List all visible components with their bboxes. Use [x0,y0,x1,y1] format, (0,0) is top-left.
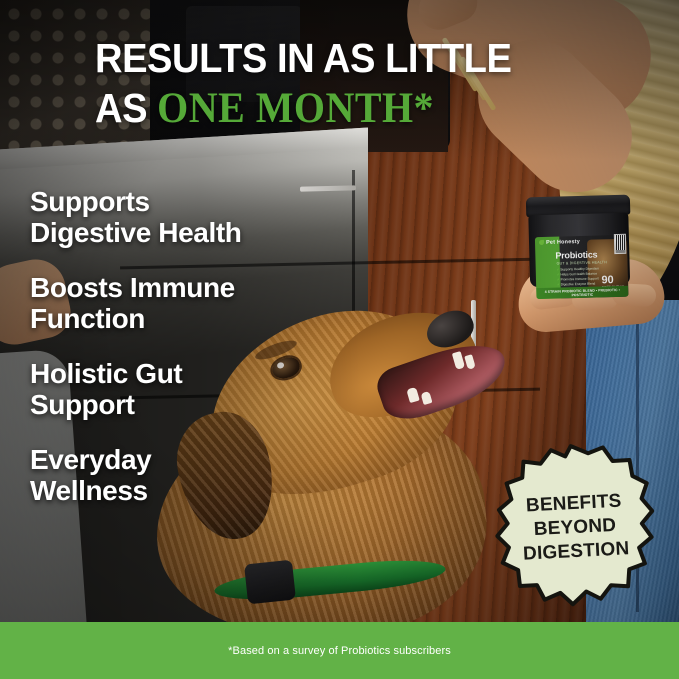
benefit-line-1: Everyday [30,444,151,475]
headline-line-2: AS ONE MONTH* [95,86,579,131]
advertisement-creative: Pet Honesty Probiotics GUT & DIGESTIVE H… [0,0,679,679]
headline-accent: ONE MONTH* [157,85,434,132]
benefit-line-2: Wellness [30,475,148,506]
badge-line-3: DIGESTION [523,537,630,567]
barcode [614,234,627,254]
footer-bar: *Based on a survey of Probiotics subscri… [0,622,679,679]
benefit-line-1: Holistic Gut [30,358,182,389]
benefits-list: Supports Digestive Health Boosts Immune … [30,186,340,530]
benefit-line-2: Digestive Health [30,217,241,248]
product-title: Probiotics [555,250,597,261]
benefit-item-holistic-gut-support: Holistic Gut Support [30,358,340,420]
brand-name: Pet Honesty [546,239,580,246]
leaf-icon [539,240,544,245]
benefits-beyond-digestion-badge: BENEFITS BEYOND DIGESTION [491,440,660,616]
benefit-item-immune-function: Boosts Immune Function [30,272,340,334]
benefit-item-everyday-wellness: Everyday Wellness [30,444,340,506]
benefit-line-1: Boosts Immune [30,272,235,303]
brand-logo: Pet Honesty [539,239,580,246]
dog-collar-buckle [244,560,296,605]
benefit-line-1: Supports [30,186,150,217]
product-jar[interactable]: Pet Honesty Probiotics GUT & DIGESTIVE H… [526,195,632,288]
jar-body: Pet Honesty Probiotics GUT & DIGESTIVE H… [528,213,630,288]
headline-line-1: RESULTS IN AS LITTLE [95,35,511,81]
benefit-line-2: Support [30,389,135,420]
badge-text: BENEFITS BEYOND DIGESTION [491,440,660,616]
benefit-line-2: Function [30,303,145,334]
product-bullets: Supports Healthy Digestion Helps Gut Hea… [557,266,600,287]
footer-disclaimer: *Based on a survey of Probiotics subscri… [228,645,451,657]
headline-line-2-prefix: AS [95,85,157,131]
benefit-item-digestive-health: Supports Digestive Health [30,186,340,248]
headline: RESULTS IN AS LITTLE AS ONE MONTH* [95,36,579,131]
